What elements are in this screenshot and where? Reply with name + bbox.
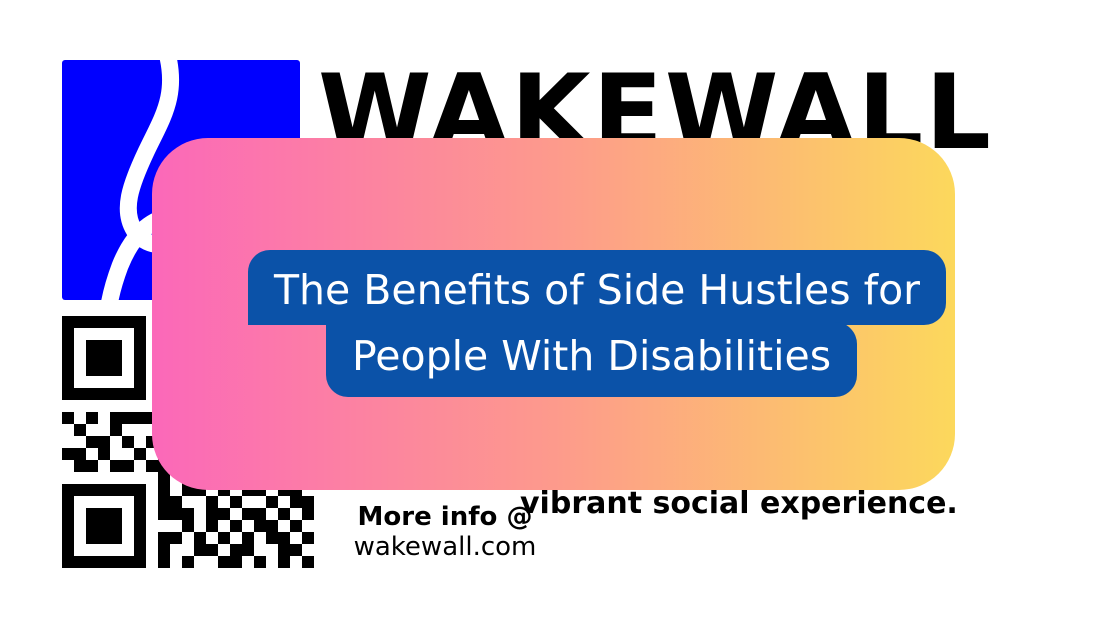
more-info-label: More info @ — [330, 503, 560, 532]
promo-headline-row-1: The Benefits of Side Hustles for — [248, 250, 1051, 325]
promo-headline-line-2: People With Disabilities — [326, 322, 857, 397]
promo-headline-row-2: People With Disabilities — [248, 322, 1051, 397]
social-card-canvas: WAKEWALL w ces, business listings, and a… — [0, 0, 1120, 630]
more-info-url[interactable]: wakewall.com — [330, 532, 560, 563]
promo-card: The Benefits of Side Hustles for People … — [152, 138, 955, 490]
promo-headline: The Benefits of Side Hustles for People … — [248, 250, 1051, 397]
promo-headline-line-1: The Benefits of Side Hustles for — [248, 250, 946, 325]
more-info-block: More info @ wakewall.com — [330, 503, 560, 563]
